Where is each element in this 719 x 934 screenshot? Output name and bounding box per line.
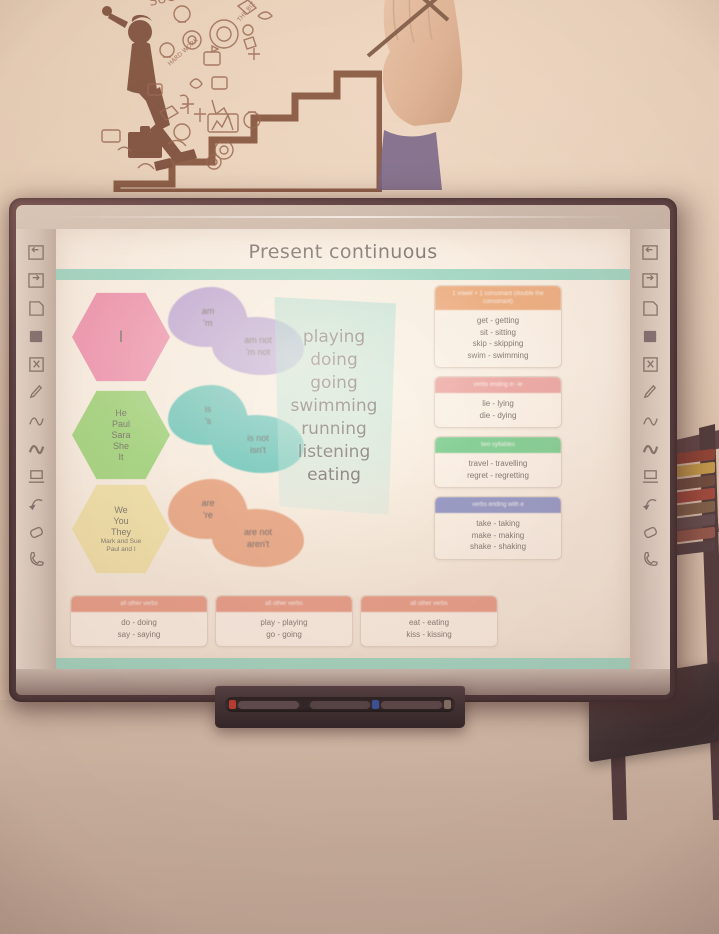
rule-ie-to-ying: verbs ending in -ie lie - lying die - dy… [434, 376, 562, 428]
undo-arrow-icon[interactable] [25, 495, 47, 514]
color-block-icon[interactable] [25, 327, 47, 346]
red-marker[interactable] [229, 700, 236, 709]
rule-header: verbs ending in -ie [435, 377, 561, 393]
verb-item: playing [303, 326, 365, 348]
verb-item: listening [298, 441, 371, 463]
rule-example: shake - shaking [439, 541, 557, 553]
rule-example: travel - travelling [439, 458, 557, 470]
phone-icon[interactable] [639, 551, 661, 570]
blank-page-icon[interactable] [639, 299, 661, 318]
board-top-rail [16, 209, 670, 229]
rule-all-other-verbs-2: all other verbs play - playing go - goin… [215, 595, 353, 647]
verb-item: swimming [291, 395, 378, 417]
page-forward-icon[interactable] [639, 271, 661, 290]
phone-icon[interactable] [25, 551, 47, 570]
keyboard-icon[interactable] [639, 467, 661, 486]
pronoun-hex-i: I [72, 291, 170, 383]
grammar-slide: Present continuous I [56, 229, 630, 669]
color-block-icon[interactable] [639, 327, 661, 346]
classroom-photo-scene: SUCCESS THE BIZ HARD WORK [0, 0, 719, 934]
pen-tool-icon[interactable] [639, 383, 661, 402]
svg-text:THE BIZ: THE BIZ [236, 0, 257, 24]
ing-verb-list: playing doing going swimming running lis… [272, 297, 396, 515]
board-bezel: Present continuous I [16, 205, 670, 695]
page-forward-icon[interactable] [25, 271, 47, 290]
rule-example: play - playing [220, 617, 348, 629]
pronoun-row-i: I am 'm am not 'm not [72, 291, 302, 387]
rule-example: get - getting [439, 315, 557, 327]
blank-page-icon[interactable] [25, 299, 47, 318]
rule-header: 1 vowel + 1 consonant (double the conson… [435, 286, 561, 310]
rule-example: go - going [220, 629, 348, 641]
verb-item: going [310, 372, 357, 394]
rule-example: swim - swimming [439, 350, 557, 362]
squiggle-thick-icon[interactable] [25, 439, 47, 458]
pen-tray[interactable] [215, 686, 465, 728]
rule-example: kiss - kissing [365, 629, 493, 641]
page-back-icon[interactable] [25, 243, 47, 262]
squiggle-thin-icon[interactable] [639, 411, 661, 430]
undo-arrow-icon[interactable] [639, 495, 661, 514]
rule-header: verbs ending with e [435, 497, 561, 513]
pronoun-hex-we-you-they: We You They Mark and Sue Paul and I [72, 483, 170, 575]
rule-all-other-verbs-1: all other verbs do - doing say - saying [70, 595, 208, 647]
eraser-icon[interactable] [639, 523, 661, 542]
page-back-icon[interactable] [639, 243, 661, 262]
rule-example: say - saying [75, 629, 203, 641]
accent-band-top [56, 269, 630, 280]
accent-band-bottom [56, 658, 630, 669]
rule-two-syllable-stress: two syllables travel - travelling regret… [434, 436, 562, 488]
rule-header: all other verbs [71, 596, 207, 612]
verb-blob-are-not: are not aren't [212, 509, 304, 567]
rule-all-other-verbs-3: all other verbs eat - eating kiss - kiss… [360, 595, 498, 647]
verb-item: running [301, 418, 367, 440]
eraser-icon[interactable] [25, 523, 47, 542]
keyboard-icon[interactable] [25, 467, 47, 486]
rule-example: make - making [439, 530, 557, 542]
interactive-whiteboard[interactable]: Present continuous I [9, 198, 677, 702]
pronoun-hex-he-she-it: He Paul Sara She It [72, 389, 170, 481]
select-tool-icon[interactable] [639, 355, 661, 374]
projection-screen[interactable]: Present continuous I [56, 229, 630, 669]
blue-marker[interactable] [372, 700, 379, 709]
spelling-rules-column: 1 vowel + 1 consonant (double the conson… [434, 285, 562, 568]
rule-example: sit - sitting [439, 327, 557, 339]
rule-example: die - dying [439, 410, 557, 422]
rule-header: all other verbs [216, 596, 352, 612]
rule-example: regret - regretting [439, 470, 557, 482]
success-word: SUCCESS [148, 0, 210, 10]
squiggle-thick-icon[interactable] [639, 439, 661, 458]
other-verbs-row: all other verbs do - doing say - saying … [70, 595, 498, 647]
page-title: Present continuous [56, 229, 630, 263]
black-marker[interactable] [301, 700, 308, 709]
pronoun-column: I am 'm am not 'm not [72, 291, 302, 581]
hand-compass-poster [366, 0, 486, 190]
verb-item: doing [310, 349, 357, 371]
pen-tool-icon[interactable] [25, 383, 47, 402]
eraser[interactable] [444, 700, 451, 709]
rule-example: lie - lying [439, 398, 557, 410]
rule-header: two syllables [435, 437, 561, 453]
verb-item: eating [307, 464, 361, 486]
pronoun-row-he-she-it: He Paul Sara She It is 's [72, 389, 302, 485]
rule-example: skip - skipping [439, 338, 557, 350]
rule-example: eat - eating [365, 617, 493, 629]
rule-example: do - doing [75, 617, 203, 629]
squiggle-thin-icon[interactable] [25, 411, 47, 430]
right-toolbar[interactable] [630, 229, 670, 669]
hex-pronoun: I [119, 327, 124, 347]
select-tool-icon[interactable] [25, 355, 47, 374]
rule-header: all other verbs [361, 596, 497, 612]
pronoun-row-we-you-they: We You They Mark and Sue Paul and I are … [72, 483, 302, 579]
success-poster: SUCCESS THE BIZ HARD WORK [62, 0, 382, 192]
left-toolbar[interactable] [16, 229, 56, 669]
rule-verbs-ending-in-e: verbs ending with e take - taking make -… [434, 496, 562, 560]
rule-example: take - taking [439, 518, 557, 530]
rule-double-consonant: 1 vowel + 1 consonant (double the conson… [434, 285, 562, 368]
